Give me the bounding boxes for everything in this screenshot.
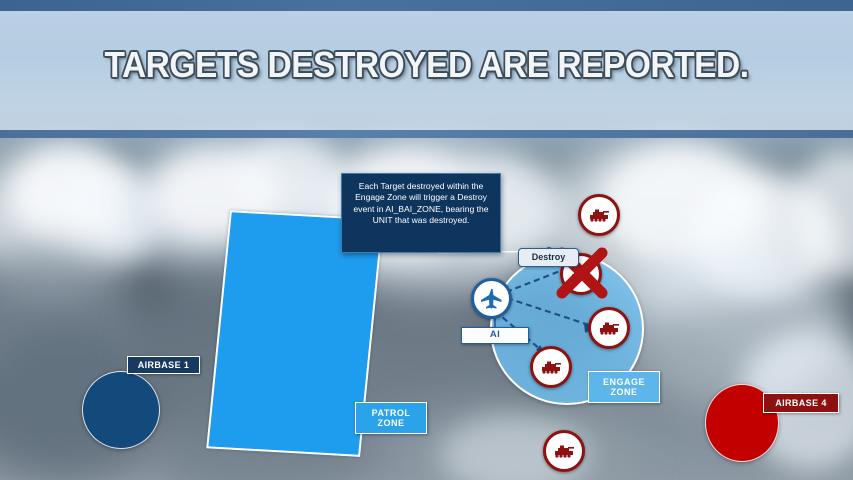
bottom-accent-band — [0, 130, 853, 138]
tank-target-icon — [553, 444, 575, 458]
top-accent-band — [0, 0, 853, 11]
tank-target-icon — [570, 267, 592, 281]
patrol-zone-label-line2: ZONE — [372, 418, 411, 428]
tank-target-icon — [598, 321, 620, 335]
patrol-zone-label-line1: PATROL — [372, 408, 411, 418]
tank-target-icon — [540, 360, 562, 374]
airbase-1-label[interactable]: AIRBASE 1 — [127, 356, 200, 374]
tank-target-icon — [588, 208, 610, 222]
target-icon[interactable] — [588, 307, 630, 349]
ai-unit-icon[interactable] — [471, 278, 512, 319]
engage-zone-label[interactable]: ENGAGE ZONE — [588, 371, 660, 403]
patrol-zone-label[interactable]: PATROL ZONE — [355, 402, 427, 434]
engage-zone-label-line2: ZONE — [603, 387, 645, 397]
target-icon[interactable] — [530, 346, 572, 388]
engage-zone-label-line1: ENGAGE — [603, 377, 645, 387]
fighter-jet-icon — [479, 288, 504, 310]
target-icon[interactable] — [543, 430, 585, 472]
slide-canvas: TARGETS DESTROYED ARE REPORTED. — [0, 0, 853, 480]
page-title: TARGETS DESTROYED ARE REPORTED. — [30, 44, 823, 86]
ai-label[interactable]: AI — [461, 327, 529, 344]
destroy-label[interactable]: Destroy — [518, 248, 579, 267]
callout-box: Each Target destroyed within the Engage … — [341, 173, 501, 253]
airbase-4-label[interactable]: AIRBASE 4 — [763, 393, 839, 413]
target-icon[interactable] — [578, 194, 620, 236]
airbase-1-shape[interactable] — [82, 371, 160, 449]
